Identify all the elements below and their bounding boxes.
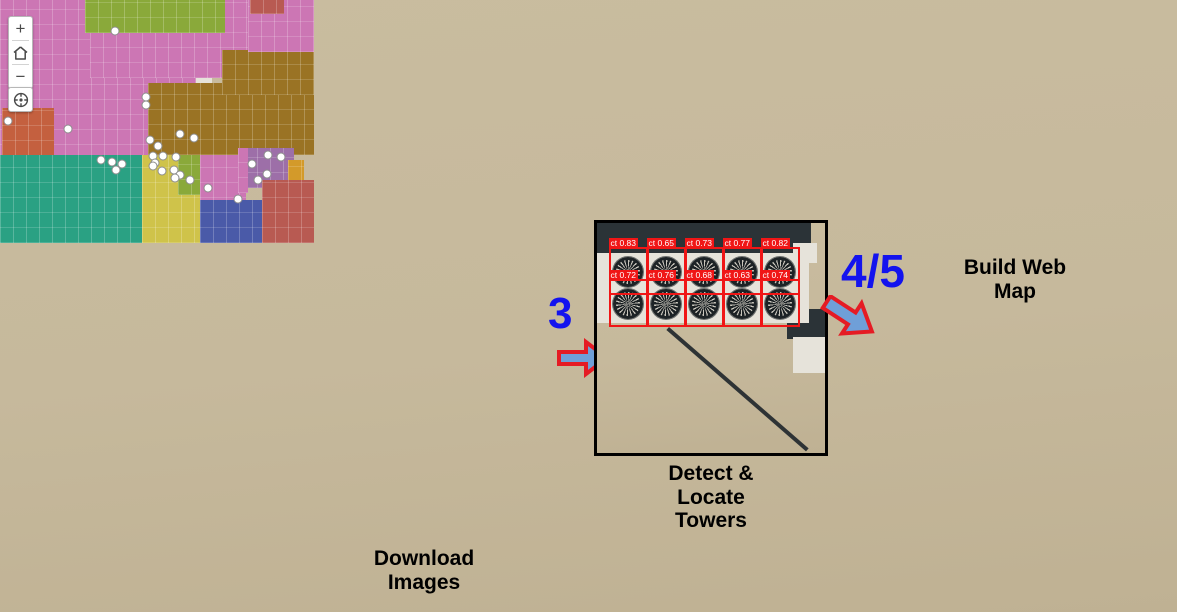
detection-label: ct 0.83	[609, 238, 638, 249]
detection-box: ct 0.74	[761, 279, 800, 327]
caption-line: Build Web	[930, 256, 1100, 280]
zoom-in-button[interactable]: +	[9, 17, 32, 40]
detection-box: ct 0.72	[609, 279, 648, 327]
map-point-icon[interactable]	[64, 125, 73, 134]
home-icon[interactable]	[9, 41, 32, 64]
district-polygon-terracotta-west[interactable]	[2, 108, 54, 156]
detection-label: ct 0.82	[761, 238, 790, 249]
map-point-icon[interactable]	[190, 134, 199, 143]
map-point-icon[interactable]	[111, 27, 120, 36]
caption-build-web-map: Build Web Map	[930, 256, 1100, 303]
map-point-icon[interactable]	[146, 136, 155, 145]
map-point-icon[interactable]	[154, 142, 163, 151]
map-point-icon[interactable]	[97, 156, 106, 165]
district-polygon-blue-south[interactable]	[200, 200, 262, 243]
detection-box: ct 0.76	[647, 279, 686, 327]
district-polygon-brown-upper[interactable]	[222, 50, 314, 95]
map-locate-control[interactable]	[8, 87, 33, 112]
map-point-icon[interactable]	[159, 152, 168, 161]
map-point-icon[interactable]	[263, 170, 272, 179]
caption-download-images: Download Images	[306, 547, 542, 594]
map-point-icon[interactable]	[248, 160, 257, 169]
district-polygon-red-southeast[interactable]	[262, 180, 314, 243]
detection-box: ct 0.63	[723, 279, 762, 327]
map-point-icon[interactable]	[186, 176, 195, 185]
map-point-icon[interactable]	[176, 130, 185, 139]
compass-locate-icon[interactable]	[9, 88, 32, 111]
district-polygon-orange-sliver[interactable]	[288, 160, 304, 182]
slide-canvas: 215 Holladay SALT LAKE Murray Midvale Pa…	[0, 0, 1177, 612]
map-point-icon[interactable]	[204, 184, 213, 193]
caption-line: Locate	[594, 486, 828, 510]
map-point-icon[interactable]	[149, 162, 158, 171]
detection-label: ct 0.68	[685, 270, 714, 281]
map-point-icon[interactable]	[171, 174, 180, 183]
map-point-icon[interactable]	[112, 166, 121, 175]
caption-detect-locate-towers: Detect & Locate Towers	[594, 462, 828, 533]
caption-line: Detect &	[594, 462, 828, 486]
caption-line: Download	[306, 547, 542, 571]
map-point-icon[interactable]	[254, 176, 263, 185]
map-point-icon[interactable]	[158, 167, 167, 176]
detection-label: ct 0.65	[647, 238, 676, 249]
caption-line: Towers	[594, 509, 828, 533]
map-point-icon[interactable]	[142, 101, 151, 110]
detection-label: ct 0.77	[723, 238, 752, 249]
map-point-icon[interactable]	[172, 153, 181, 162]
down-right-arrow-icon	[818, 295, 880, 348]
zoom-out-button[interactable]: −	[9, 65, 32, 88]
map-point-icon[interactable]	[234, 195, 243, 204]
map-point-icon[interactable]	[264, 151, 273, 160]
district-polygon-pink-right-edge[interactable]	[238, 148, 248, 193]
detection-label: ct 0.76	[647, 270, 676, 281]
detection-label: ct 0.73	[685, 238, 714, 249]
map-zoom-control[interactable]: + −	[8, 16, 33, 89]
step-number-4-5: 4/5	[841, 248, 905, 294]
map-point-icon[interactable]	[277, 153, 286, 162]
detection-label: ct 0.74	[761, 270, 790, 281]
detection-box: ct 0.68	[685, 279, 724, 327]
detection-label: ct 0.63	[723, 270, 752, 281]
caption-line: Map	[930, 280, 1100, 304]
caption-line: Images	[306, 571, 542, 595]
district-polygon-red-top-corner[interactable]	[250, 0, 284, 14]
step-number-3: 3	[548, 292, 572, 336]
map-point-icon[interactable]	[4, 117, 13, 126]
detection-label: ct 0.72	[609, 270, 638, 281]
district-polygon-olive-north[interactable]	[85, 0, 225, 33]
detect-locate-panel: ct 0.83 ct 0.65 ct 0.73 ct 0.77 ct 0.82 …	[594, 220, 828, 456]
